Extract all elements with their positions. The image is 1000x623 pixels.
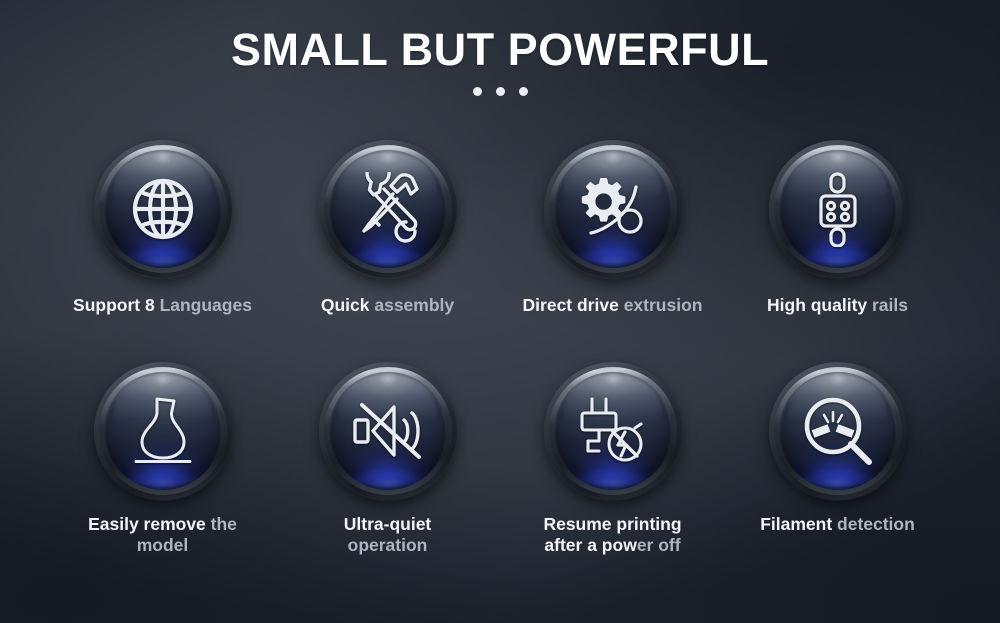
feature-item-filament-detection[interactable]: Filament detection [725,362,950,578]
caption-dim: Languages [160,295,252,315]
separator-dot [473,87,482,96]
caption-bright: Resume printing [543,514,681,534]
caption-bright: Quick [321,295,375,315]
separator-dot [496,87,505,96]
feature-caption: High quality rails [767,295,908,316]
linear-rail-icon [779,150,897,268]
feature-item-easily-remove-the-model[interactable]: Easily remove the model [50,362,275,578]
feature-item-support-8-languages[interactable]: Support 8 Languages [50,140,275,356]
caption-bright: High quality [767,295,872,315]
feature-item-quick-assembly[interactable]: Quick assembly [275,140,500,356]
caption-bright: Easily remove [88,514,211,534]
feature-caption: Easily remove the model [88,514,237,556]
caption-dim: the [211,514,237,534]
feature-button[interactable] [319,362,457,500]
caption-dim: extrusion [624,295,703,315]
caption-bright: Filament [760,514,837,534]
caption-line2: model [88,535,237,556]
feature-caption: Resume printing after a power off [543,514,681,556]
feature-item-resume-printing-after-power-off[interactable]: Resume printing after a power off [500,362,725,578]
caption-line2-bright: after a pow [544,535,636,555]
caption-line2: operation [344,535,432,556]
power-plug-off-icon [554,372,672,490]
separator-dot [519,87,528,96]
gear-filament-icon [554,150,672,268]
globe-icon [104,150,222,268]
feature-caption: Support 8 Languages [73,295,252,316]
feature-caption: Quick assembly [321,295,454,316]
feature-caption: Direct drive extrusion [523,295,703,316]
page-title: SMALL BUT POWERFUL [0,26,1000,73]
caption-line2: after a power off [543,535,681,556]
feature-caption: Ultra-quiet operation [344,514,432,556]
feature-button[interactable] [94,140,232,278]
feature-button[interactable] [319,140,457,278]
feature-button[interactable] [94,362,232,500]
hammer-wrench-icon [329,150,447,268]
vase-icon [104,372,222,490]
feature-button[interactable] [544,362,682,500]
feature-button[interactable] [769,362,907,500]
feature-grid: Support 8 Languages [50,140,950,578]
filament-detection-icon [779,372,897,490]
caption-dim: rails [872,295,908,315]
feature-item-ultra-quiet-operation[interactable]: Ultra-quiet operation [275,362,500,578]
mute-speaker-icon [329,372,447,490]
caption-dim: detection [837,514,915,534]
feature-button[interactable] [769,140,907,278]
caption-bright: Ultra-quiet [344,514,432,534]
caption-bright: Support 8 [73,295,160,315]
feature-caption: Filament detection [760,514,915,535]
caption-dim: assembly [374,295,454,315]
feature-button[interactable] [544,140,682,278]
header: SMALL BUT POWERFUL [0,0,1000,96]
caption-bright: Direct drive [523,295,624,315]
feature-item-high-quality-rails[interactable]: High quality rails [725,140,950,356]
caption-line2-dim: er off [637,535,681,555]
dot-separator [0,87,1000,96]
feature-item-direct-drive-extrusion[interactable]: Direct drive extrusion [500,140,725,356]
